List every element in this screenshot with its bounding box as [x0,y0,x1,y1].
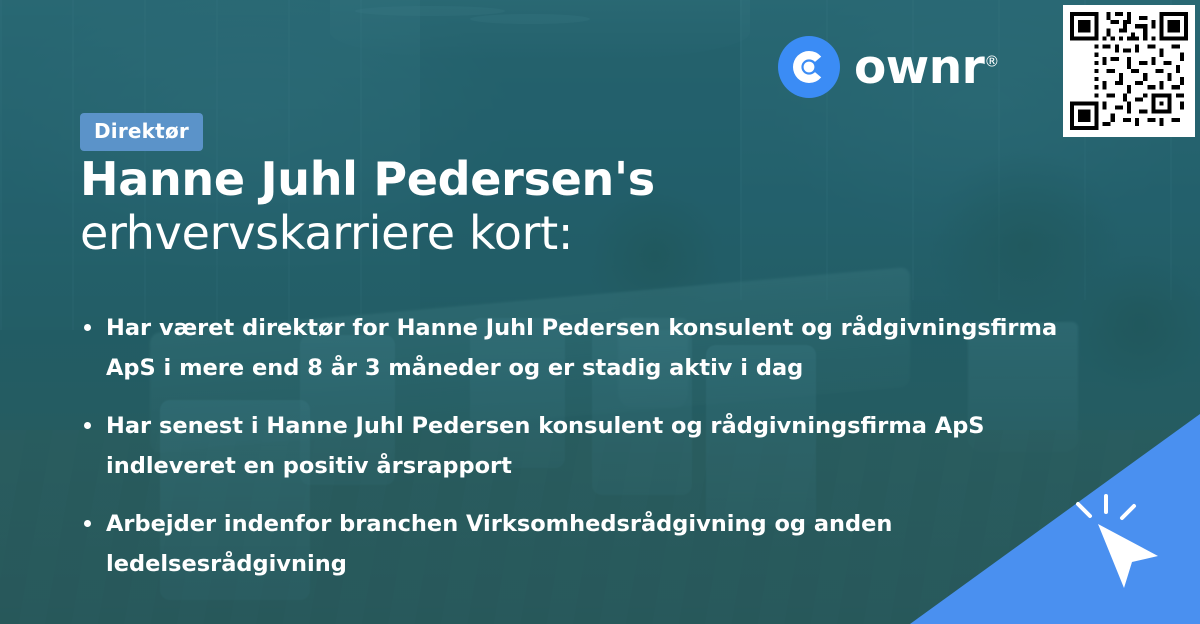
ownr-wordmark: ownr® [854,44,999,91]
ownr-circle-swirl-icon [778,36,840,98]
title-line-1: Hanne Juhl Pedersen's [80,152,840,206]
title-line-2: erhvervskarriere kort: [80,206,840,260]
business-card-image: ownr® [0,0,1200,624]
click-cursor-icon [1062,486,1172,596]
registered-mark: ® [984,52,999,70]
page-title: Hanne Juhl Pedersen's erhvervskarriere k… [80,152,840,261]
list-item: Har været direktør for Hanne Juhl Peders… [80,308,1110,388]
role-badge: Direktør [80,113,203,151]
ownr-logo: ownr® [778,36,999,98]
qr-code-icon[interactable] [1063,5,1195,137]
